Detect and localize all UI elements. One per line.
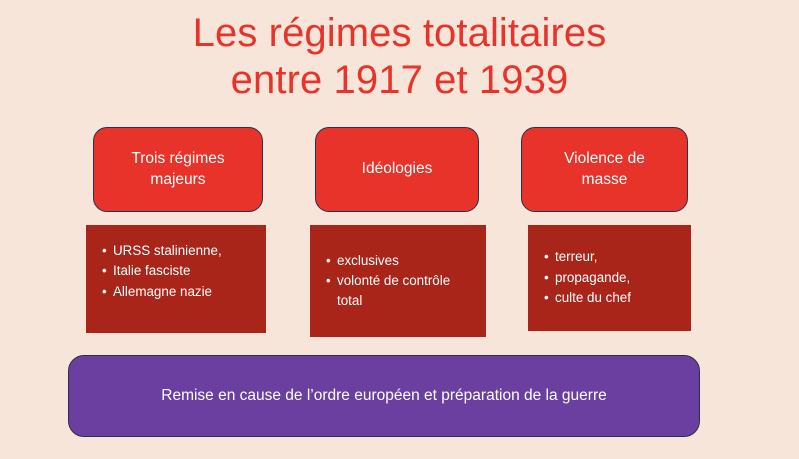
slide-canvas: Les régimes totalitaires entre 1917 et 1… bbox=[0, 0, 799, 459]
list-item: culte du chef bbox=[544, 288, 679, 307]
list-item: Allemagne nazie bbox=[102, 282, 254, 301]
column-body-box-2: exclusives volonté de contrôle total bbox=[310, 225, 486, 337]
page-title: Les régimes totalitaires entre 1917 et 1… bbox=[60, 10, 739, 104]
bullet-list-3: terreur, propagande, culte du chef bbox=[544, 247, 679, 308]
column-header-box-2: Idéologies bbox=[315, 127, 479, 212]
column-body-box-1: URSS stalinienne, Italie fasciste Allema… bbox=[86, 225, 266, 333]
list-item: propagande, bbox=[544, 268, 679, 287]
column-body-box-3: terreur, propagande, culte du chef bbox=[528, 225, 691, 331]
column-header-box-3: Violence de masse bbox=[521, 127, 688, 212]
conclusion-banner: Remise en cause de l’ordre européen et p… bbox=[68, 355, 700, 437]
list-item: Italie fasciste bbox=[102, 261, 254, 280]
bullet-list-1: URSS stalinienne, Italie fasciste Allema… bbox=[102, 241, 254, 302]
list-item: terreur, bbox=[544, 247, 679, 266]
list-item: exclusives bbox=[326, 251, 474, 270]
bullet-list-2: exclusives volonté de contrôle total bbox=[326, 251, 474, 311]
list-item: volonté de contrôle total bbox=[326, 271, 474, 310]
list-item: URSS stalinienne, bbox=[102, 241, 254, 260]
column-header-box-1: Trois régimes majeurs bbox=[93, 127, 263, 212]
